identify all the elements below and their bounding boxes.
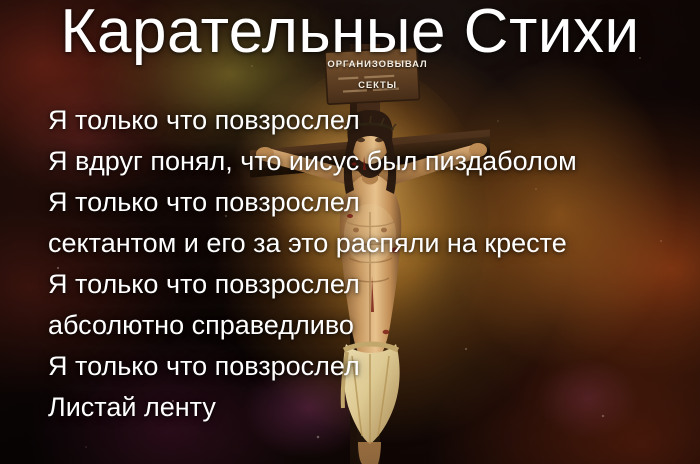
sign-text-line-2: СЕКТЫ [300,80,455,91]
verse-line: Я только что повзрослел [48,100,692,141]
verse-line: Листай ленту [48,387,692,428]
sign-text-line-1: ОРГАНИЗОВЫВАЛ [300,59,455,70]
verse-block: Я только что повзрослел Я вдруг понял, ч… [48,100,692,428]
verse-line: сектантом и его за это распяли на кресте [48,223,692,264]
verse-line: Я только что повзрослел [48,264,692,305]
verse-line: Я только что повзрослел [48,346,692,387]
meme-image: Карательные Стихи ОРГАНИЗОВЫВАЛ СЕКТЫ Я … [0,0,700,464]
verse-line: Я вдруг понял, что иисус был пиздаболом [48,141,692,182]
verse-line: абсолютно справедливо [48,305,692,346]
verse-line: Я только что повзрослел [48,182,692,223]
page-title: Карательные Стихи [0,0,700,68]
